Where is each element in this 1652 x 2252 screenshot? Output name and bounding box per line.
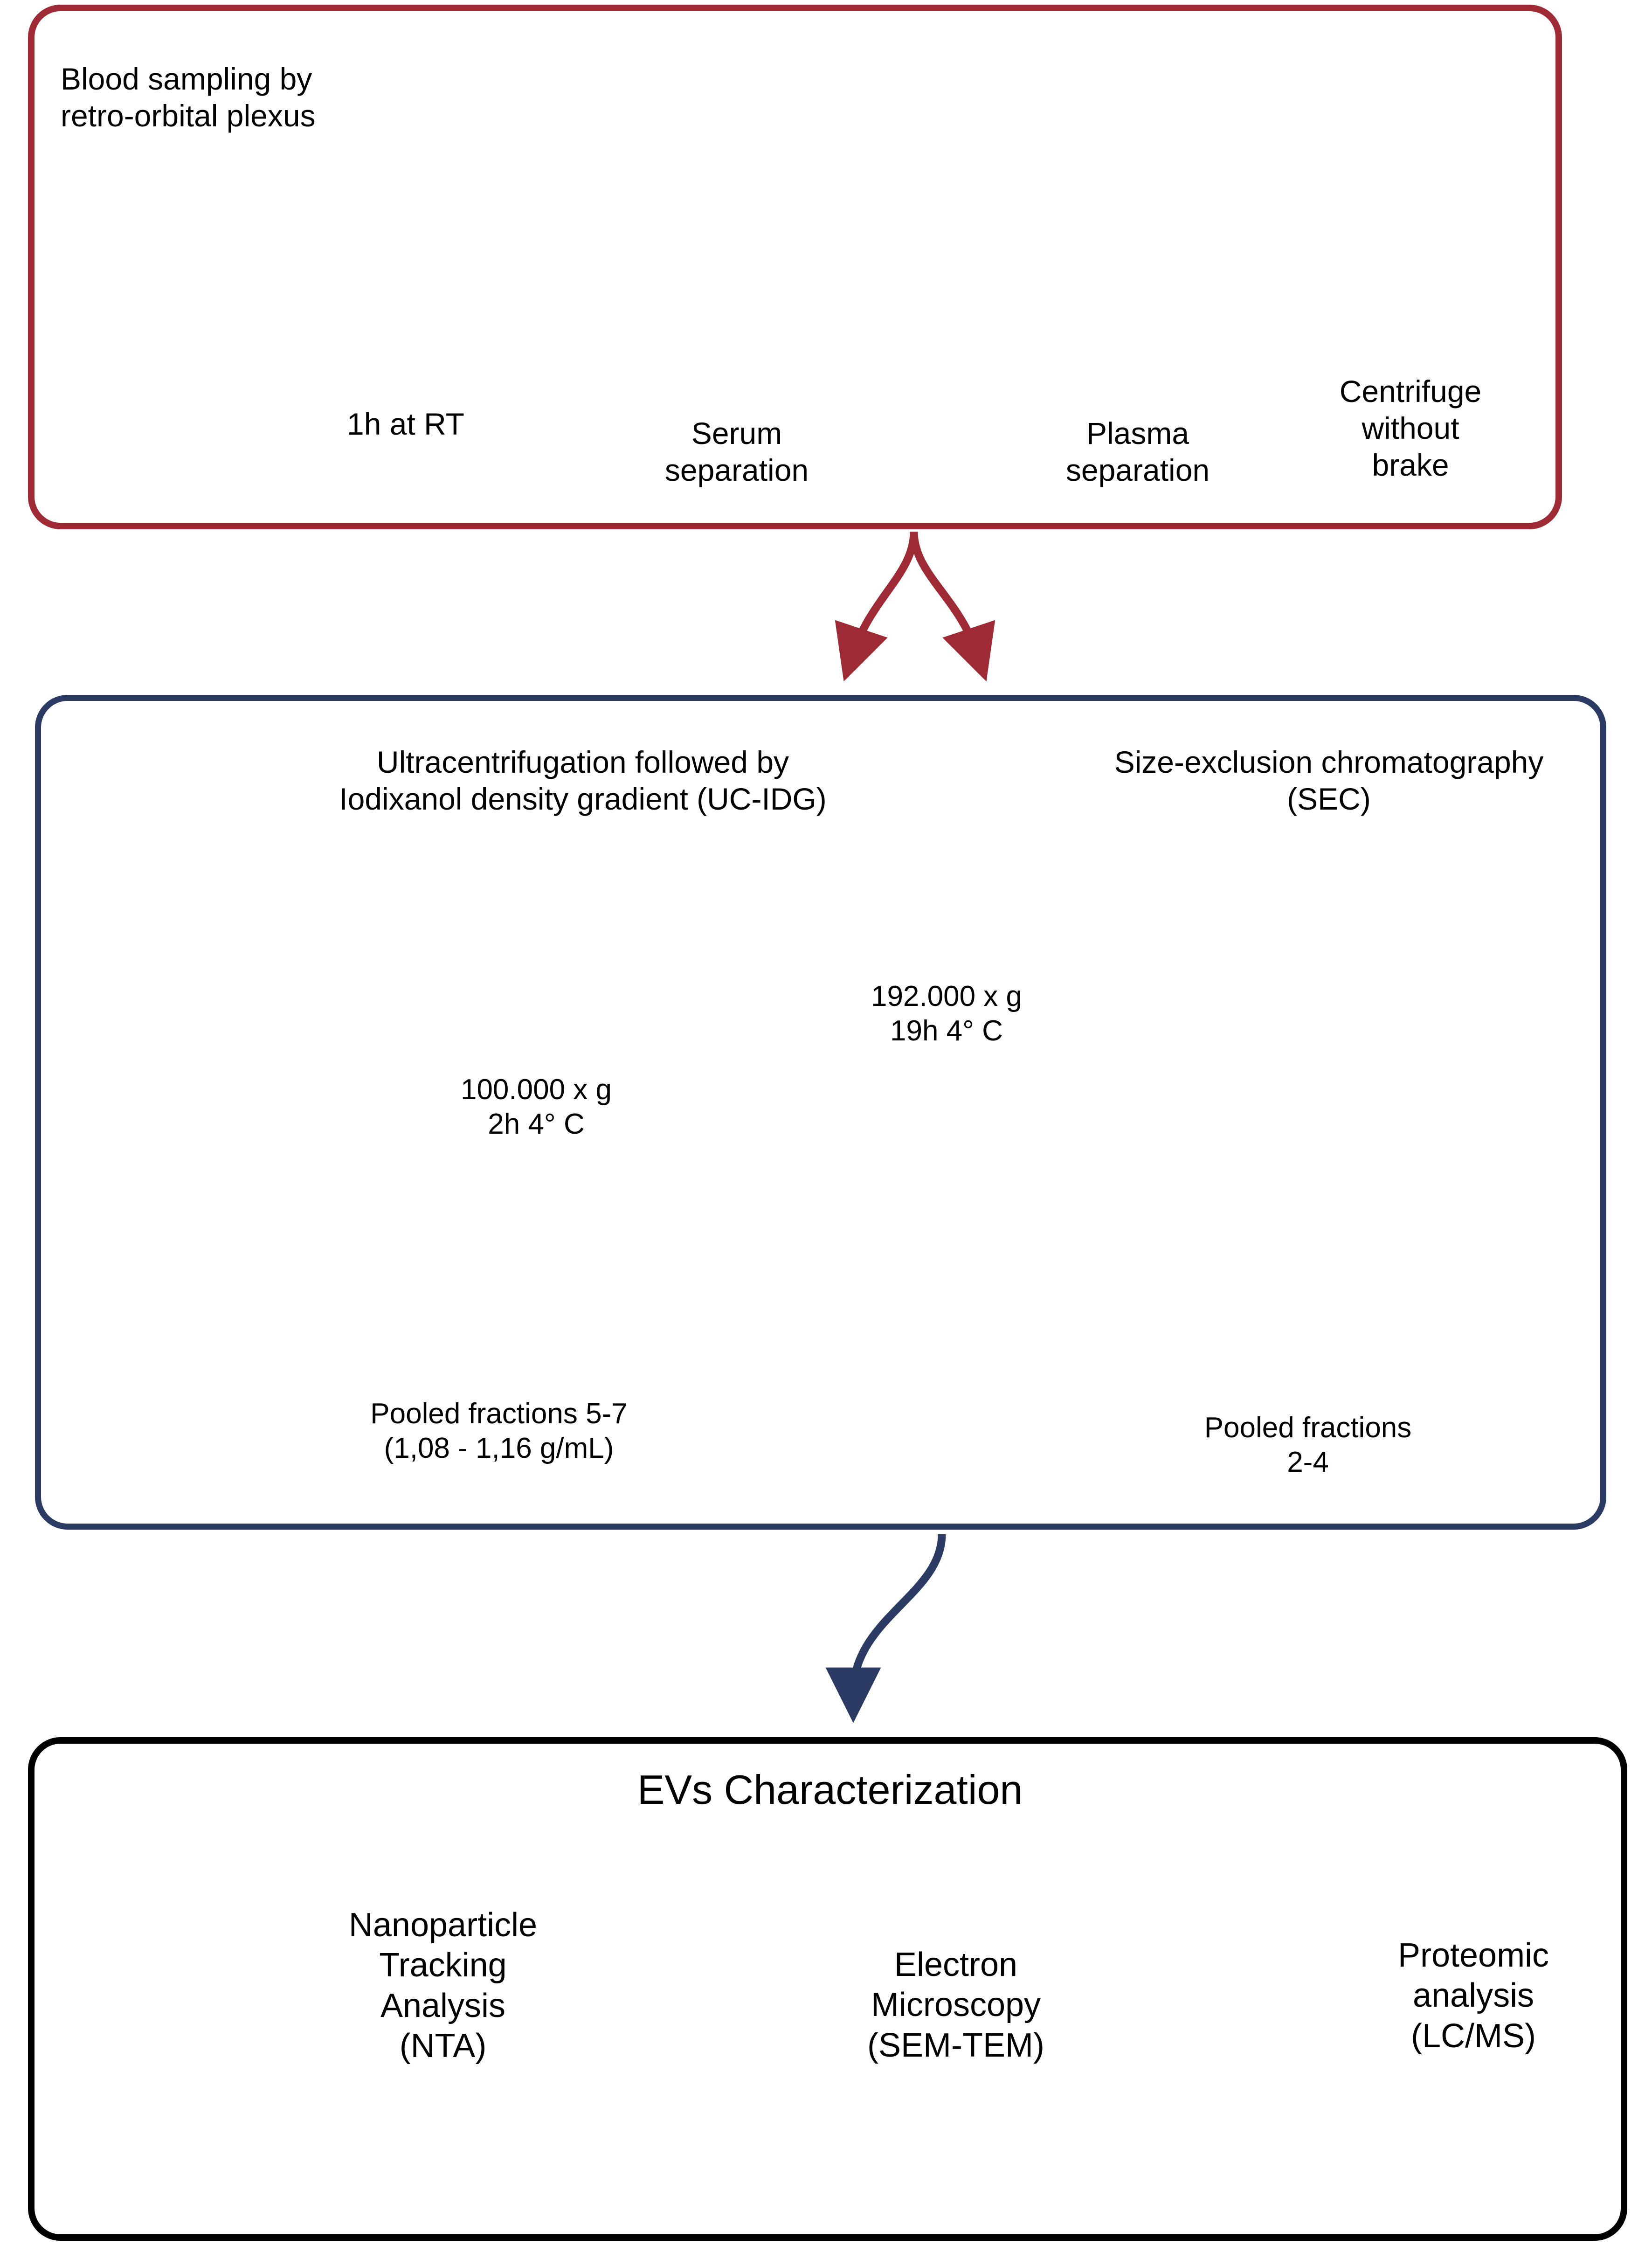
nta-method-label: Nanoparticle Tracking Analysis (NTA) [317,1905,569,2066]
blood-sampling-label: Blood sampling by retro-orbital plexus [61,61,359,134]
uc-spin-conditions-label: 100.000 x g 2h 4° C [420,1073,653,1142]
connector-red [853,532,977,653]
sec-title: Size-exclusion chromatography (SEC) [1091,744,1567,818]
connector-navy [853,1534,942,1693]
idg-spin-conditions-label: 192.000 x g 19h 4° C [835,979,1058,1049]
uc-idg-title: Ultracentrifugation followed by Iodixano… [289,744,877,818]
uc-pooled-fractions-label: Pooled fractions 5-7 (1,08 - 1,16 g/mL) [289,1397,709,1466]
plasma-separation-label: Plasma separation [1044,415,1231,489]
electron-microscopy-method-label: Electron Microscopy (SEM-TEM) [825,1945,1086,2065]
sec-pooled-fractions-label: Pooled fractions 2-4 [1133,1411,1483,1480]
incubation-time-label: 1h at RT [308,406,504,443]
proteomic-analysis-method-label: Proteomic analysis (LC/MS) [1352,1935,1595,2056]
serum-separation-label: Serum separation [643,415,830,489]
panel-ev-isolation [35,695,1606,1530]
evs-characterization-title: EVs Characterization [466,1765,1194,1815]
centrifuge-without-brake-label: Centrifuge without brake [1301,373,1520,484]
